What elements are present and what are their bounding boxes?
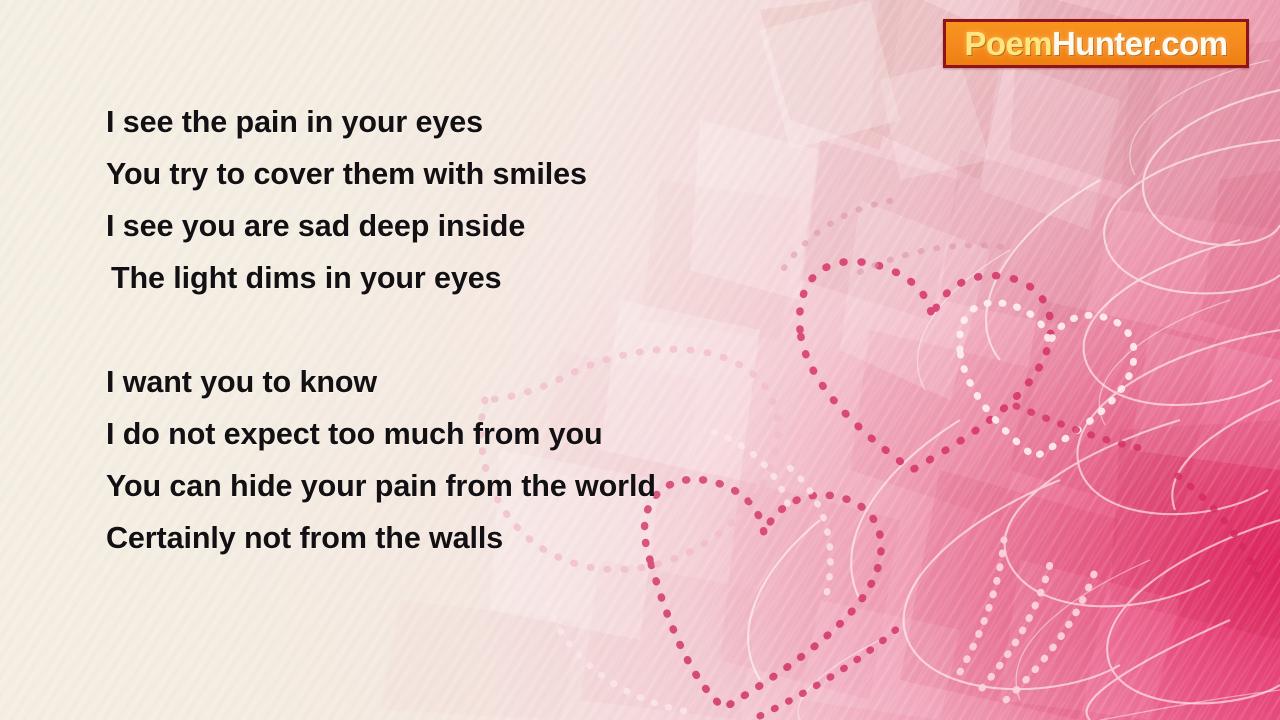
logo-text-hunter: Hunter.com — [1052, 25, 1228, 62]
poem-text-block: I see the pain in your eyes You try to c… — [106, 96, 806, 564]
logo-text-poem: Poem — [964, 25, 1051, 62]
poem-line: Certainly not from the walls — [106, 512, 806, 564]
poem-line: I see the pain in your eyes — [106, 96, 806, 148]
poemhunter-logo[interactable]: PoemHunter.com — [943, 19, 1249, 68]
poem-line: I see you are sad deep inside — [106, 200, 806, 252]
poem-line: I do not expect too much from you — [106, 408, 806, 460]
poem-line: You can hide your pain from the world — [106, 460, 806, 512]
poem-line: The light dims in your eyes — [106, 252, 806, 304]
poem-line-blank — [106, 304, 806, 356]
poem-image-canvas: I see the pain in your eyes You try to c… — [0, 0, 1280, 720]
poem-line: You try to cover them with smiles — [106, 148, 806, 200]
poem-line: I want you to know — [106, 356, 806, 408]
logo-wordmark: PoemHunter.com — [964, 27, 1227, 60]
